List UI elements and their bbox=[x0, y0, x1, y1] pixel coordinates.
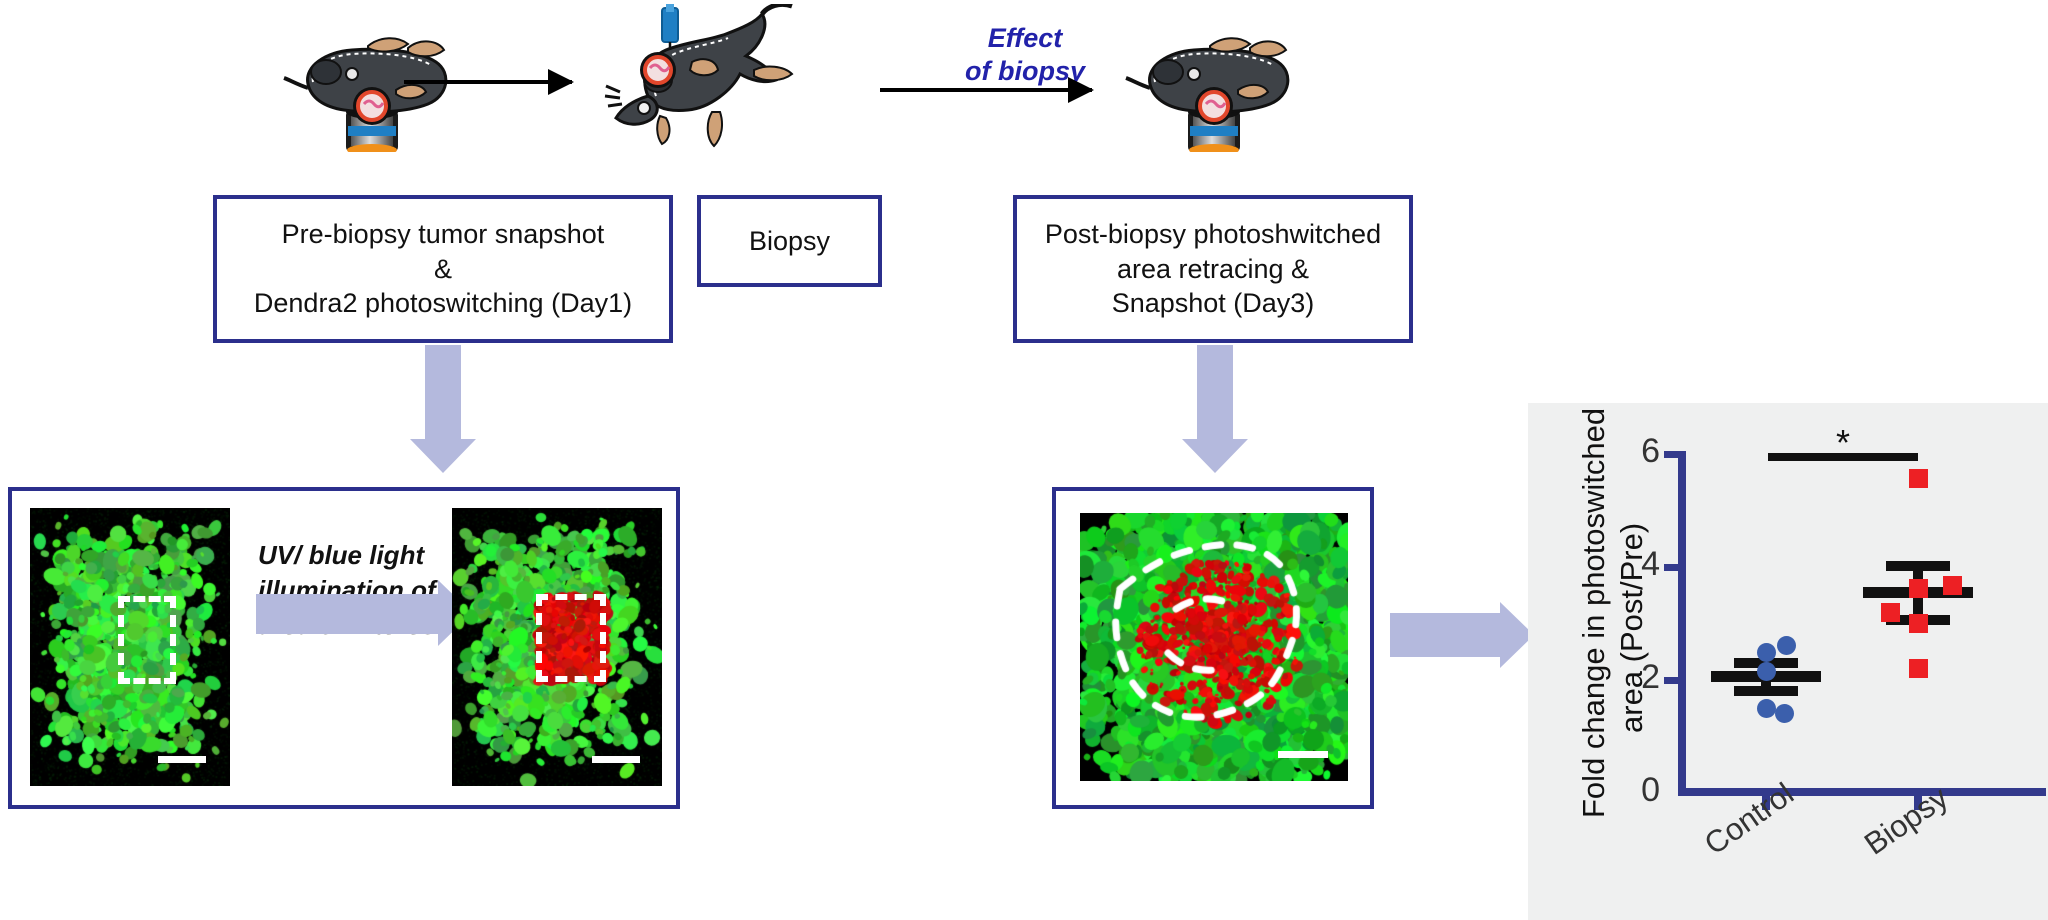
data-point-control bbox=[1757, 643, 1776, 662]
error-bar-cap-lower bbox=[1734, 686, 1798, 696]
data-point-biopsy bbox=[1909, 579, 1928, 598]
chart-panel: Fold change in photoswitched area (Post/… bbox=[1528, 403, 2048, 920]
data-point-biopsy bbox=[1881, 603, 1900, 622]
roi-photoswitch-region bbox=[118, 596, 176, 684]
data-point-control bbox=[1777, 636, 1796, 655]
mouse-biopsy-needle-icon bbox=[600, 4, 810, 154]
data-point-control bbox=[1757, 699, 1776, 718]
box-biopsy: Biopsy bbox=[697, 195, 882, 287]
micrograph-pre-green bbox=[30, 508, 230, 786]
box-post-biopsy-text: Post-biopsy photoshwitched area retracin… bbox=[1035, 213, 1391, 325]
error-bar-cap-upper bbox=[1886, 561, 1950, 571]
data-point-biopsy bbox=[1909, 469, 1928, 488]
flow-arrow-1 bbox=[404, 80, 572, 84]
scale-bar bbox=[158, 756, 206, 763]
data-point-control bbox=[1757, 662, 1776, 681]
roi-photoswitch-region bbox=[536, 594, 606, 682]
down-arrow-right bbox=[1181, 345, 1249, 473]
plot-data-layer bbox=[1528, 403, 2048, 920]
mouse-under-microscope-icon bbox=[268, 22, 468, 152]
data-point-biopsy bbox=[1909, 614, 1928, 633]
right-arrow-to-chart bbox=[1390, 585, 1540, 685]
right-arrow-photoswitch bbox=[256, 568, 472, 660]
box-biopsy-text: Biopsy bbox=[739, 220, 840, 263]
mouse-under-microscope-icon bbox=[1110, 22, 1310, 152]
box-pre-biopsy: Pre-biopsy tumor snapshot & Dendra2 phot… bbox=[213, 195, 673, 343]
down-arrow-left bbox=[409, 345, 477, 473]
flow-arrow-2 bbox=[880, 88, 1092, 92]
data-point-control bbox=[1775, 704, 1794, 723]
scale-bar bbox=[1278, 751, 1328, 758]
scale-bar bbox=[592, 756, 640, 763]
box-pre-biopsy-text: Pre-biopsy tumor snapshot & Dendra2 phot… bbox=[244, 213, 642, 325]
data-point-biopsy bbox=[1943, 576, 1962, 595]
micrograph-day3-retraced bbox=[1080, 513, 1348, 781]
micrograph-post-photoswitch-red bbox=[452, 508, 662, 786]
box-post-biopsy: Post-biopsy photoshwitched area retracin… bbox=[1013, 195, 1413, 343]
data-point-biopsy bbox=[1909, 659, 1928, 678]
